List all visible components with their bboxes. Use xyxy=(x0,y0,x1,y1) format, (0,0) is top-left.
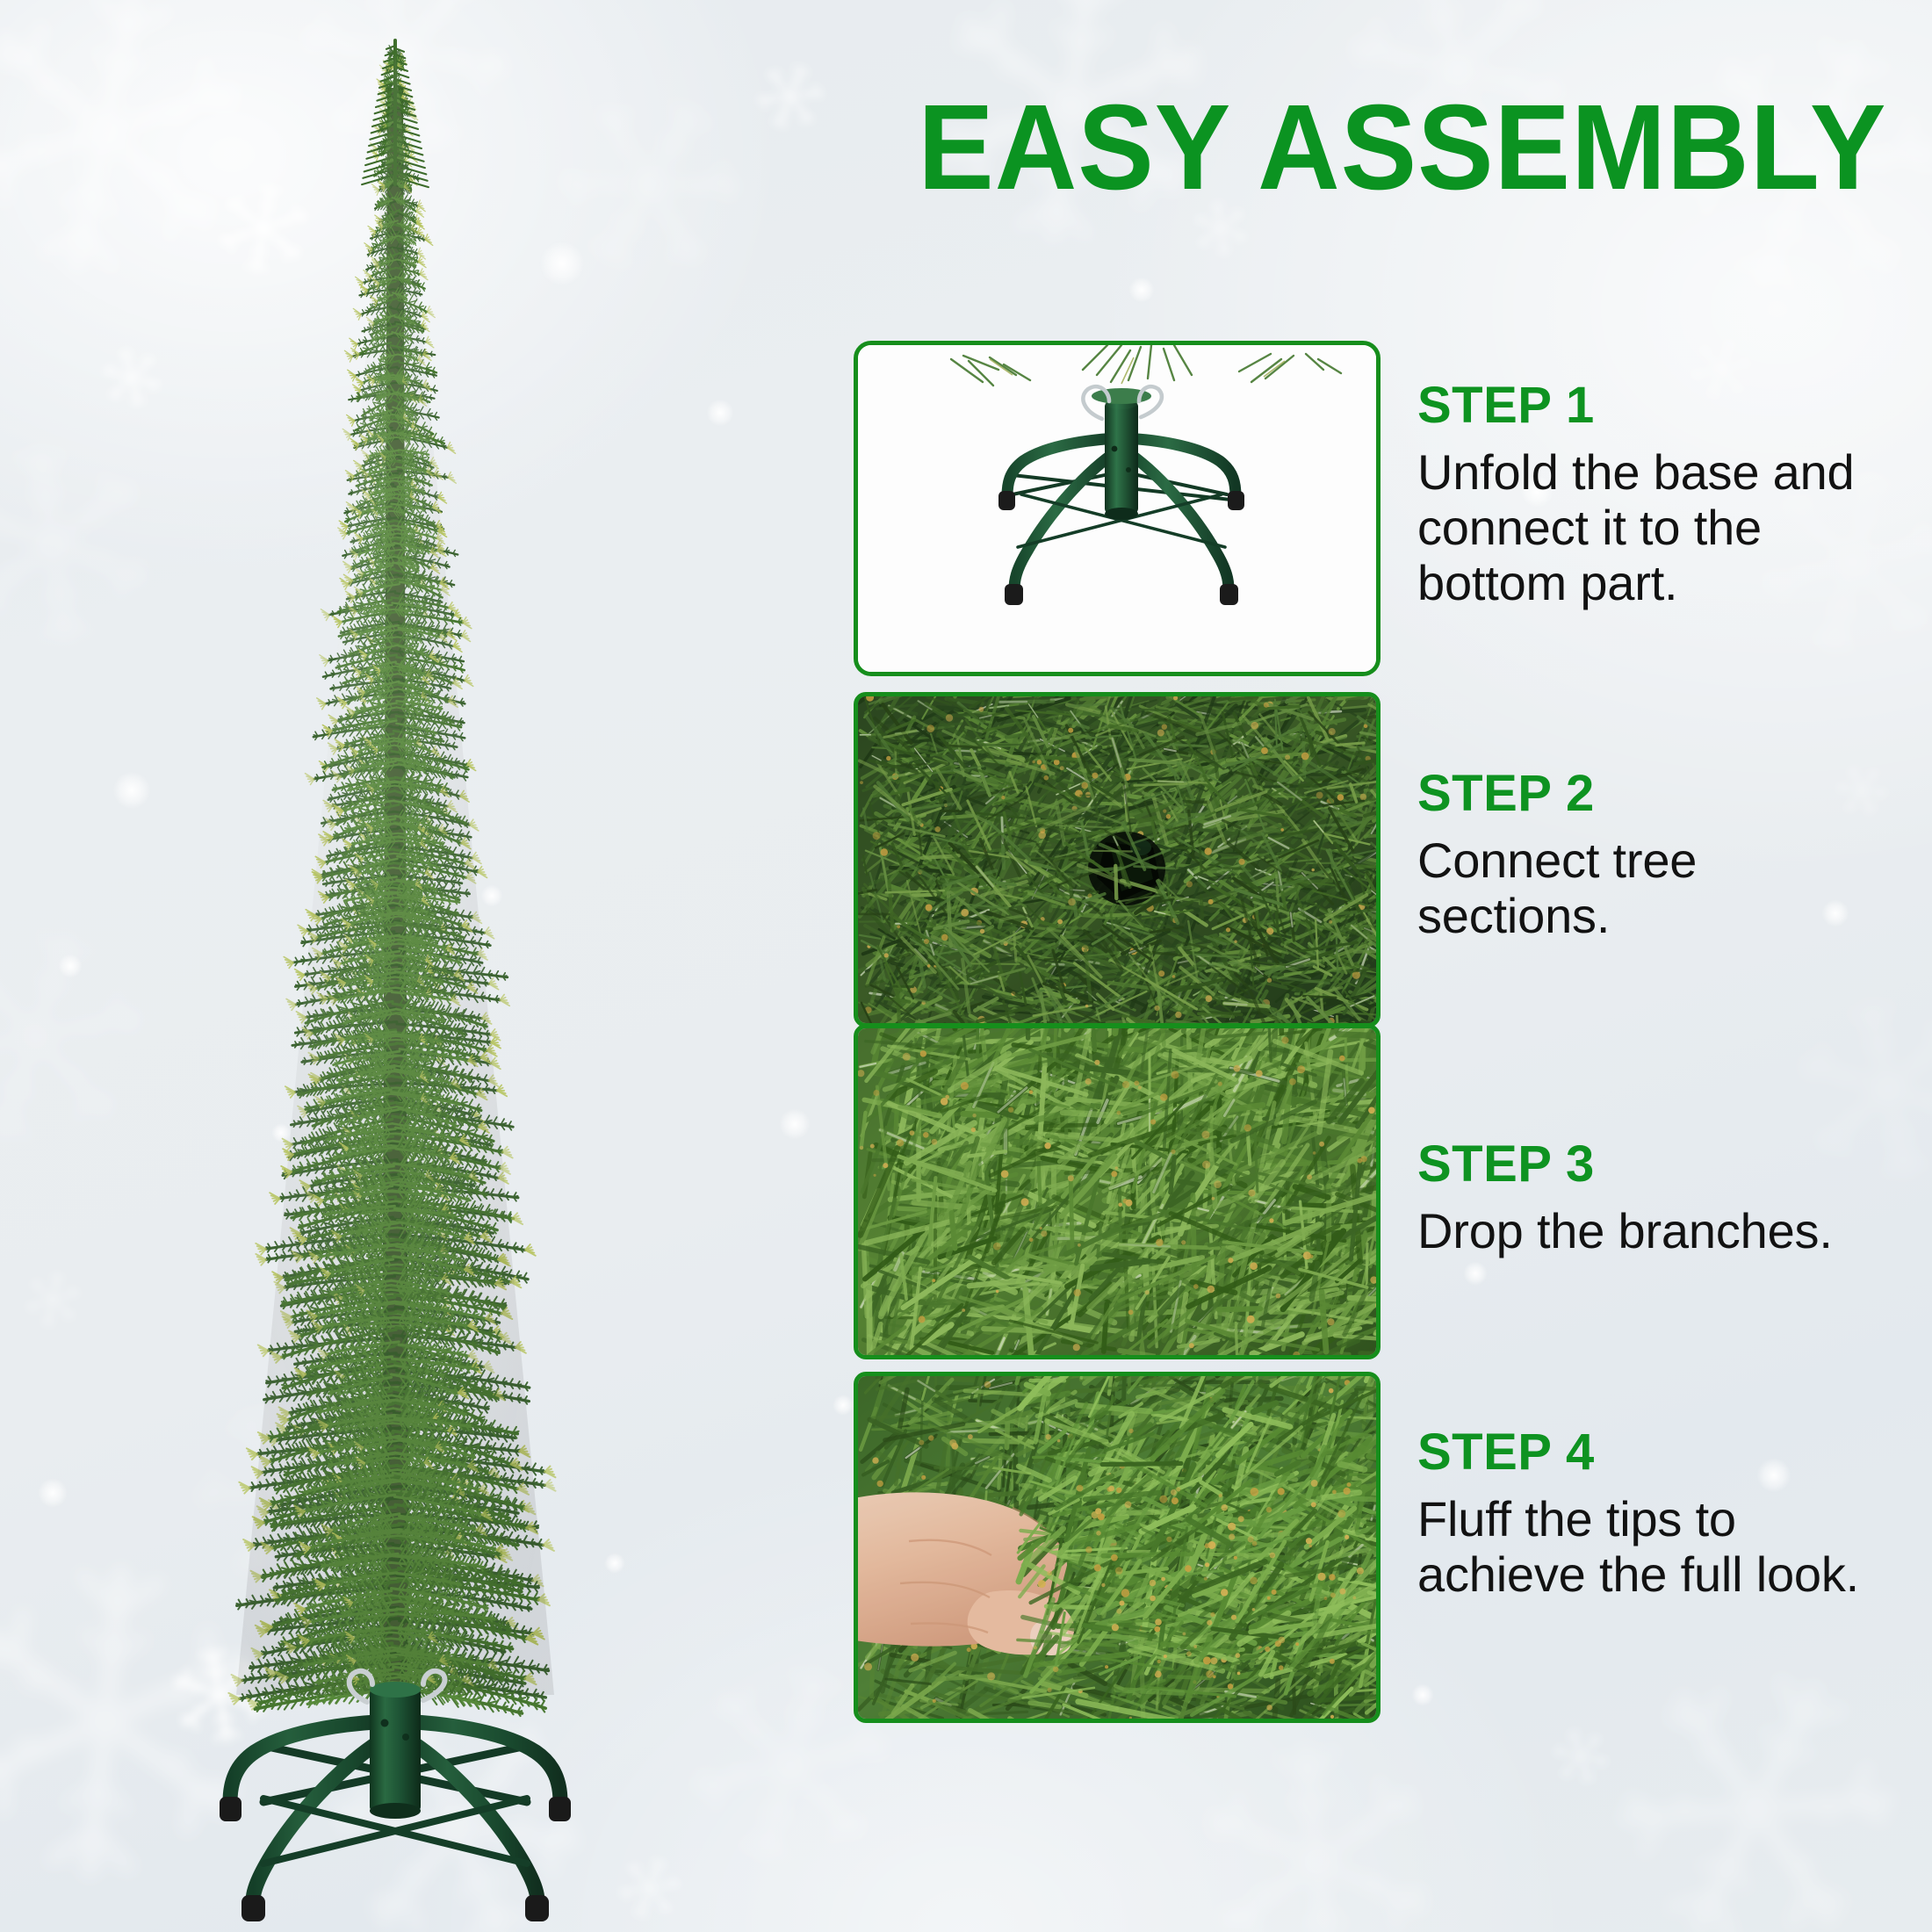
step-row-3: STEP 3 Drop the branches. xyxy=(854,1024,1925,1359)
step-4-image-panel xyxy=(854,1372,1381,1723)
step-1-text-column: STEP 1 Unfold the base and connect it to… xyxy=(1381,341,1925,610)
step-2-text-column: STEP 2 Connect tree sections. xyxy=(1381,692,1925,944)
step-4-body: Fluff the tips to achieve the full look. xyxy=(1417,1492,1883,1602)
step-3-text-column: STEP 3 Drop the branches. xyxy=(1381,1024,1925,1259)
step-1-image-panel xyxy=(854,341,1381,676)
branch-connector-closeup-photo xyxy=(858,696,1376,1023)
step-2-body: Connect tree sections. xyxy=(1417,833,1883,943)
step-2-title: STEP 2 xyxy=(1417,768,1925,819)
page-title: EASY ASSEMBLY xyxy=(880,90,1925,205)
tree-stand-photo xyxy=(858,345,1376,672)
step-1-title: STEP 1 xyxy=(1417,379,1925,431)
step-row-4: STEP 4 Fluff the tips to achieve the ful… xyxy=(854,1372,1925,1723)
step-1-body: Unfold the base and connect it to the bo… xyxy=(1417,445,1883,610)
product-tree-image xyxy=(0,0,843,1932)
step-4-title: STEP 4 xyxy=(1417,1426,1925,1478)
step-3-body: Drop the branches. xyxy=(1417,1204,1883,1259)
infographic-canvas: EASY ASSEMBLY xyxy=(0,0,1932,1932)
step-row-1: STEP 1 Unfold the base and connect it to… xyxy=(854,341,1925,676)
page-title-text: EASY ASSEMBLY xyxy=(918,87,1886,208)
hand-fluffing-branch-photo xyxy=(858,1376,1376,1719)
step-4-text-column: STEP 4 Fluff the tips to achieve the ful… xyxy=(1381,1372,1925,1603)
step-3-title: STEP 3 xyxy=(1417,1138,1925,1190)
step-3-image-panel xyxy=(854,1024,1381,1359)
branch-needles-closeup-photo xyxy=(858,1028,1376,1355)
step-row-2: STEP 2 Connect tree sections. xyxy=(854,692,1925,1027)
step-2-image-panel xyxy=(854,692,1381,1027)
